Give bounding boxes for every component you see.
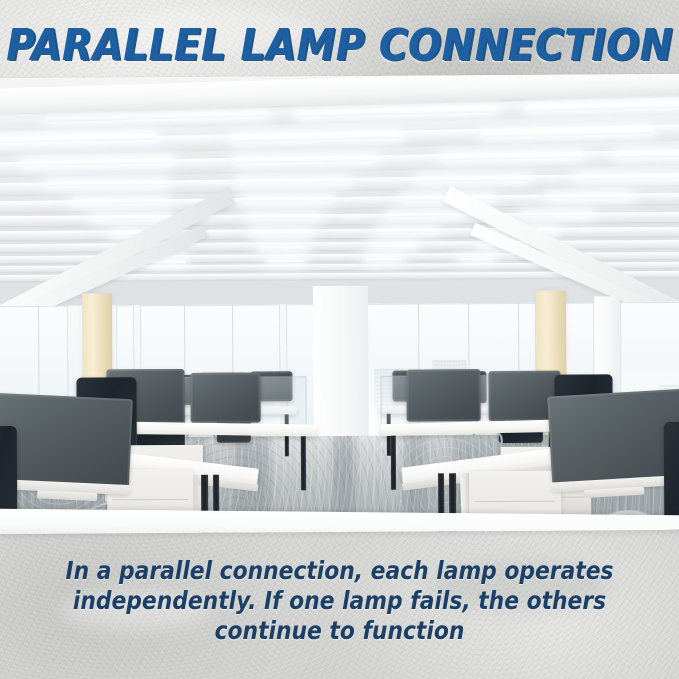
- ceiling-lamp: [387, 213, 459, 216]
- ceiling-lamp: [522, 212, 592, 215]
- desk-leg: [301, 436, 306, 490]
- white-column-center: [313, 286, 369, 444]
- ceiling-lamp: [253, 231, 311, 234]
- ceiling-lamp: [148, 261, 186, 263]
- ceiling-lamp: [92, 216, 170, 219]
- monitor-mid-left-2: [190, 372, 260, 422]
- ceiling-lamp: [366, 259, 402, 261]
- ceiling-lamp: [460, 258, 494, 260]
- monitor-foreground-right: [547, 388, 679, 491]
- desk-leg: [391, 436, 396, 490]
- caption-text: In a parallel connection, each lamp oper…: [49, 556, 630, 646]
- ceiling-lamp: [268, 260, 304, 262]
- ceiling-lamp: [617, 151, 679, 158]
- ceiling-lamp: [237, 179, 349, 184]
- poster-canvas: PARALLEL LAMP CONNECTION: [0, 0, 679, 679]
- ceiling-lamp: [242, 197, 332, 202]
- ceiling-lamp: [577, 175, 679, 180]
- ceiling-lamp: [260, 246, 306, 249]
- ceiling-lamp: [370, 245, 416, 248]
- ceiling-lamp: [72, 199, 167, 204]
- ceiling-lamp: [547, 194, 632, 199]
- office-photo-scene: [0, 74, 679, 534]
- monitor-foreground-left: [0, 392, 133, 493]
- office-photo: [0, 74, 679, 534]
- ceiling-lamp: [417, 177, 529, 182]
- ceiling-lamp: [47, 181, 167, 186]
- ceiling-lamp: [378, 229, 436, 232]
- page-title: PARALLEL LAMP CONNECTION: [5, 20, 674, 71]
- monitor-mid-right: [406, 369, 480, 421]
- ceiling-lamp: [247, 215, 319, 218]
